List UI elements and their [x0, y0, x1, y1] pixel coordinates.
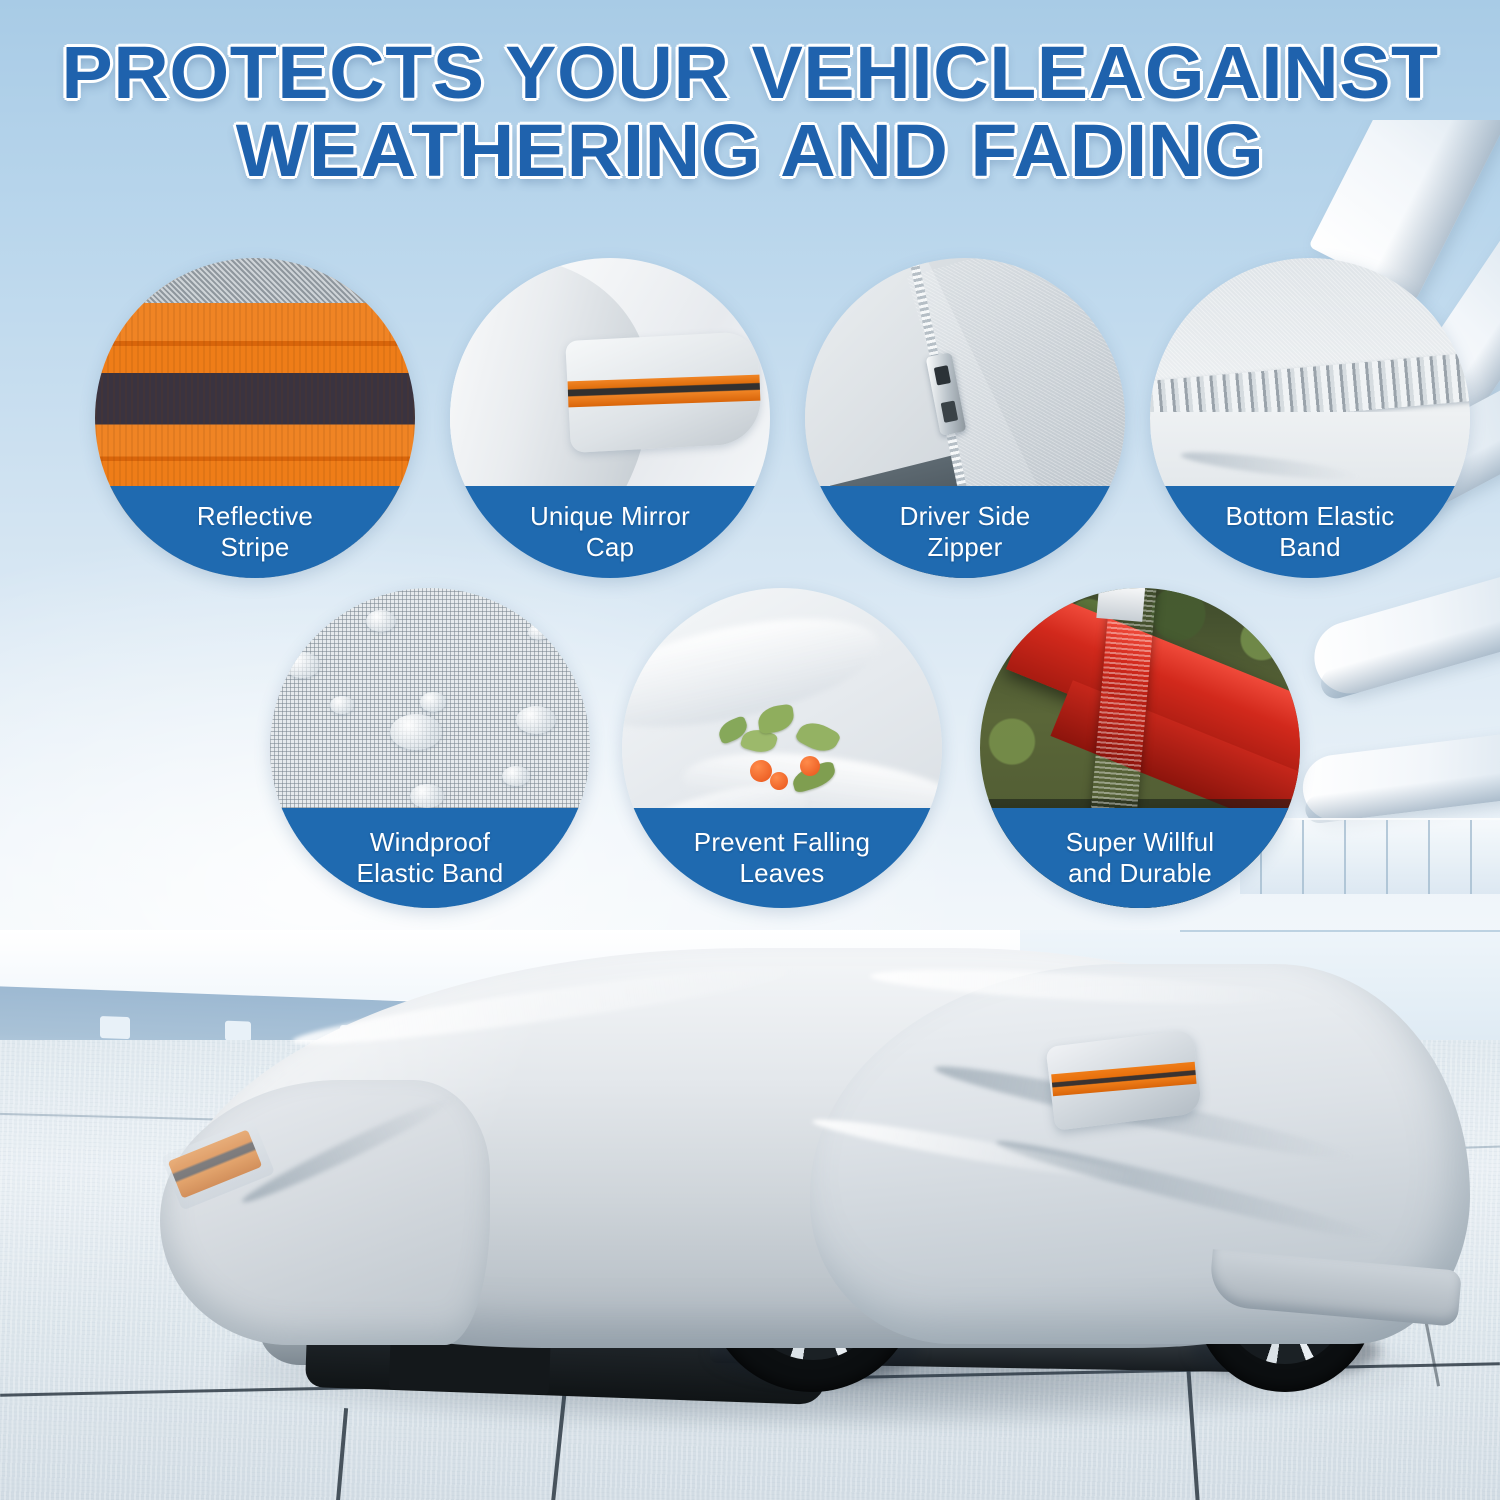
label-line-1: Prevent Falling — [694, 827, 870, 857]
product-feature-poster: PROTECTS YOUR VEHICLEAGAINST WEATHERING … — [0, 0, 1500, 1500]
ramp-slab — [1299, 721, 1500, 824]
hero-vehicle-with-cover — [110, 930, 1470, 1490]
label-line-2: Leaves — [739, 858, 824, 888]
feature-prevent-falling-leaves[interactable]: Prevent Falling Leaves — [622, 588, 942, 908]
label-line-1: Bottom Elastic — [1226, 501, 1395, 531]
title-line-1: PROTECTS YOUR VEHICLEAGAINST — [61, 31, 1438, 114]
label-line-2: Cap — [586, 532, 634, 562]
feature-label-prevent-falling-leaves: Prevent Falling Leaves — [622, 808, 942, 908]
label-line-2: and Durable — [1068, 858, 1212, 888]
feature-super-willful-and-durable[interactable]: Super Willful and Durable — [980, 588, 1300, 908]
feature-bottom-elastic-band[interactable]: Bottom Elastic Band — [1150, 258, 1470, 578]
car-cover-front-drape — [160, 1080, 490, 1345]
mirror-pocket-reflective-stripe — [1051, 1062, 1196, 1096]
feature-label-super-willful-and-durable: Super Willful and Durable — [980, 808, 1300, 908]
label-line-1: Windproof — [370, 827, 490, 857]
feature-label-reflective-stripe: Reflective Stripe — [95, 486, 415, 578]
label-line-2: Stripe — [220, 532, 289, 562]
feature-label-unique-mirror-cap: Unique Mirror Cap — [450, 486, 770, 578]
feature-driver-side-zipper[interactable]: Driver Side Zipper — [805, 258, 1125, 578]
label-line-2: Zipper — [928, 532, 1003, 562]
title-line-2: WEATHERING AND FADING — [0, 112, 1500, 190]
feature-reflective-stripe[interactable]: Reflective Stripe — [95, 258, 415, 578]
feature-label-windproof-elastic-band: Windproof Elastic Band — [270, 808, 590, 908]
feature-unique-mirror-cap[interactable]: Unique Mirror Cap — [450, 258, 770, 578]
label-line-2: Band — [1279, 532, 1341, 562]
feature-label-driver-side-zipper: Driver Side Zipper — [805, 486, 1125, 578]
label-line-1: Super Willful — [1066, 827, 1215, 857]
label-line-1: Unique Mirror — [530, 501, 690, 531]
page-title: PROTECTS YOUR VEHICLEAGAINST WEATHERING … — [0, 34, 1500, 190]
label-line-1: Reflective — [197, 501, 313, 531]
feature-label-bottom-elastic-band: Bottom Elastic Band — [1150, 486, 1470, 578]
label-line-1: Driver Side — [900, 501, 1031, 531]
label-line-2: Elastic Band — [357, 858, 504, 888]
feature-windproof-elastic-band[interactable]: Windproof Elastic Band — [270, 588, 590, 908]
mirror-pocket — [1045, 1029, 1202, 1130]
